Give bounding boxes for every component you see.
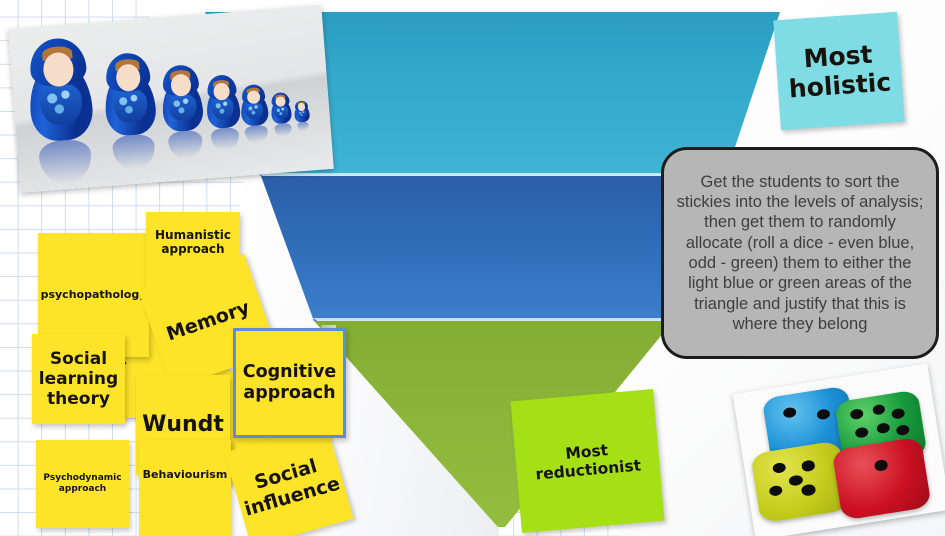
slide-canvas: Most holistic Most reductionist A c psyc… xyxy=(0,0,945,536)
sticky-psychodynamic-approach-label: Psychodynamic approach xyxy=(36,473,129,494)
instruction-callout-text: Get the students to sort the stickies in… xyxy=(674,172,926,334)
sticky-cognitive-approach-label: Cognitive approach xyxy=(236,362,343,403)
sticky-social-influence-label: Social influence xyxy=(232,449,346,521)
sticky-behaviourism-label: Behaviourism xyxy=(143,469,228,482)
sticky-most-holistic[interactable]: Most holistic xyxy=(773,12,904,130)
triangle-band-middle xyxy=(261,176,725,321)
sticky-cognitive-approach[interactable]: Cognitive approach xyxy=(233,328,346,438)
die-red xyxy=(831,436,932,520)
dice-photo xyxy=(733,364,945,536)
sticky-psychopathology-label: psychopathology xyxy=(41,289,147,302)
sticky-wundt-label: Wundt xyxy=(142,412,224,438)
sticky-social-learning-theory-label: Social learning theory xyxy=(32,349,125,409)
instruction-callout[interactable]: Get the students to sort the stickies in… xyxy=(661,147,939,359)
sticky-most-reductionist[interactable]: Most reductionist xyxy=(511,389,665,533)
sticky-most-holistic-label: Most holistic xyxy=(775,37,903,105)
sticky-social-learning-theory[interactable]: Social learning theory xyxy=(32,334,125,424)
sticky-psychodynamic-approach[interactable]: Psychodynamic approach xyxy=(36,440,129,528)
sticky-behaviourism[interactable]: Behaviourism xyxy=(139,440,231,536)
die-yellow xyxy=(750,440,850,523)
sticky-humanistic-approach-label: Humanistic approach xyxy=(146,228,240,256)
matryoshka-dolls-photo xyxy=(8,5,334,193)
sticky-most-reductionist-label: Most reductionist xyxy=(515,437,661,486)
